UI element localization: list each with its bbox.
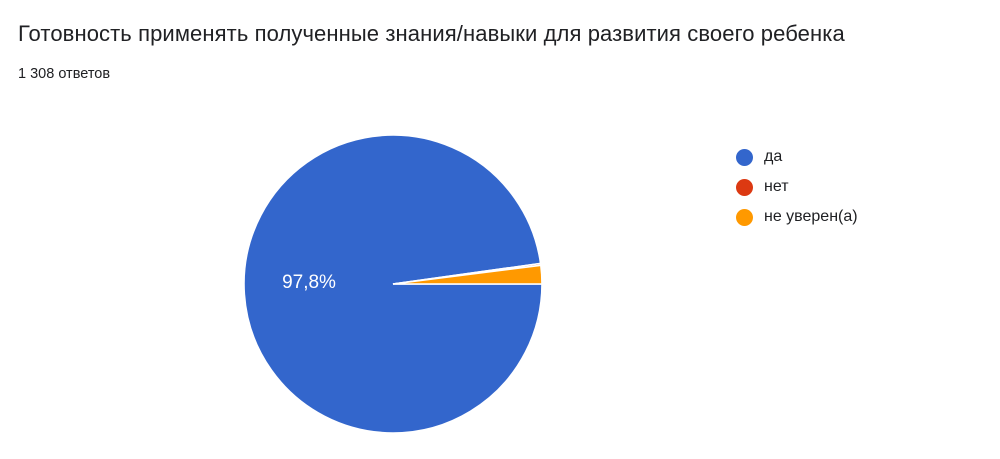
chart-title: Готовность применять полученные знания/н… <box>18 20 982 48</box>
legend-item-0[interactable]: да <box>736 142 976 172</box>
legend-item-2[interactable]: не уверен(а) <box>736 202 976 232</box>
legend-label-1: нет <box>764 178 789 196</box>
legend-label-0: да <box>764 148 782 166</box>
legend-swatch-icon-1 <box>736 179 753 196</box>
pie-chart-card: Готовность применять полученные знания/н… <box>0 0 1000 459</box>
chart-response-count: 1 308 ответов <box>18 64 110 84</box>
legend-swatch-icon-0 <box>736 149 753 166</box>
legend-swatch-icon-2 <box>736 209 753 226</box>
chart-plot-area: 97,8% данетне уверен(а) <box>0 100 1000 459</box>
legend-item-1[interactable]: нет <box>736 172 976 202</box>
pie-chart-graphic <box>243 134 543 434</box>
chart-legend: данетне уверен(а) <box>736 142 976 232</box>
pie-slice-group <box>244 135 542 433</box>
legend-label-2: не уверен(а) <box>764 208 858 226</box>
